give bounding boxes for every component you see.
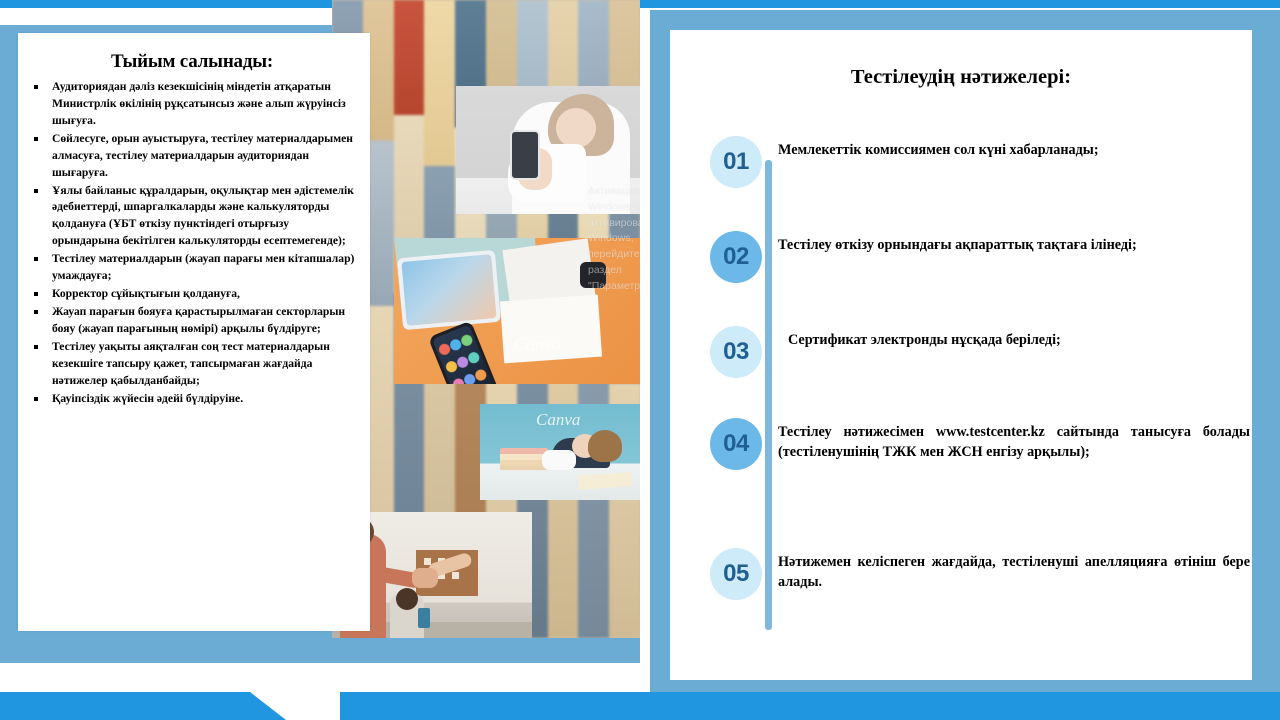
step-description: Тестілеу нәтижесімен www.testcenter.kz с… [778, 418, 1250, 462]
step-number-badge: 02 [710, 231, 762, 283]
bottom-accent-bar [0, 692, 1280, 720]
bullet-icon [34, 292, 38, 296]
prohibition-item: Корректор сұйықтығын қолдануға, [28, 286, 356, 303]
prohibition-item: Қауіпсіздік жүйесін әдейі бүлдіруіне. [28, 391, 356, 408]
prohibition-item: Жауап парағын бояуға қарастырылмаған сек… [28, 304, 356, 338]
timeline-step[interactable]: 05Нәтижемен келіспеген жағдайда, тестіле… [710, 548, 1250, 600]
step-description: Нәтижемен келіспеген жағдайда, тестілену… [778, 548, 1250, 592]
photo-collage: Canva Canva [332, 0, 640, 638]
step-number-badge: 04 [710, 418, 762, 470]
bullet-icon [34, 189, 38, 193]
prohibition-item-label: Аудиториядан дәліз кезекшісінің міндетін… [52, 80, 346, 127]
bullet-icon [34, 345, 38, 349]
prohibition-item: Тестілеу уақыты аяқталған соң тест матер… [28, 339, 356, 390]
sleeping-girl-with-books-photo: Canva [480, 404, 640, 500]
prohibitions-list: Аудиториядан дәліз кезекшісінің міндетін… [28, 79, 356, 408]
prohibition-item-label: Корректор сұйықтығын қолдануға, [52, 287, 240, 300]
prohibition-item: Тестілеу материалдарын (жауап парағы мен… [28, 251, 356, 285]
canva-watermark-desk: Canva [514, 334, 561, 355]
timeline-step[interactable]: 01Мемлекеттік комиссиямен сол күні хабар… [710, 136, 1250, 188]
slide-canvas: Canva Canva [0, 0, 1280, 720]
timeline-step[interactable]: 03Сертификат электронды нұсқада беріледі… [710, 326, 1250, 378]
step-number-badge: 03 [710, 326, 762, 378]
woman-with-phone-photo [456, 86, 640, 214]
step-number-badge: 05 [710, 548, 762, 600]
prohibitions-title: Тыйым салынады: [28, 51, 356, 73]
bullet-icon [34, 137, 38, 141]
results-card: Тестілеудің нәтижелері: 01Мемлекеттік ко… [670, 30, 1252, 680]
bullet-icon [34, 85, 38, 89]
top-accent-bar [0, 0, 1280, 8]
prohibition-item-label: Жауап парағын бояуға қарастырылмаған сек… [52, 305, 345, 335]
bullet-icon [34, 257, 38, 261]
prohibitions-card: Тыйым салынады: Аудиториядан дәліз кезек… [18, 33, 370, 631]
bullet-icon [34, 397, 38, 401]
step-number-badge: 01 [710, 136, 762, 188]
prohibition-item-label: Қауіпсіздік жүйесін әдейі бүлдіруіне. [52, 392, 243, 405]
prohibition-item-label: Тестілеу материалдарын (жауап парағы мен… [52, 252, 354, 282]
prohibition-item: Сөйлесуге, орын ауыстыруға, тестілеу мат… [28, 131, 356, 182]
prohibition-item-label: Ұялы байланыс құралдарын, оқулықтар мен … [52, 184, 354, 248]
step-description: Сертификат электронды нұсқада беріледі; [778, 326, 1250, 350]
timeline-step[interactable]: 02Тестілеу өткізу орнындағы ақпараттық т… [710, 231, 1250, 283]
prohibition-item: Аудиториядан дәліз кезекшісінің міндетін… [28, 79, 356, 130]
step-description: Тестілеу өткізу орнындағы ақпараттық тақ… [778, 231, 1250, 255]
desk-tablet-phone-photo: Canva [394, 238, 640, 384]
bullet-icon [34, 310, 38, 314]
prohibition-item-label: Сөйлесуге, орын ауыстыруға, тестілеу мат… [52, 132, 353, 179]
prohibition-item: Ұялы байланыс құралдарын, оқулықтар мен … [28, 183, 356, 251]
timeline-step[interactable]: 04Тестілеу нәтижесімен www.testcenter.kz… [710, 418, 1250, 470]
results-title: Тестілеудің нәтижелері: [692, 66, 1230, 89]
canva-watermark-sleep: Canva [536, 410, 580, 430]
results-timeline: 01Мемлекеттік комиссиямен сол күні хабар… [710, 118, 1250, 666]
prohibition-item-label: Тестілеу уақыты аяқталған соң тест матер… [52, 340, 330, 387]
step-description: Мемлекеттік комиссиямен сол күні хабарла… [778, 136, 1250, 160]
